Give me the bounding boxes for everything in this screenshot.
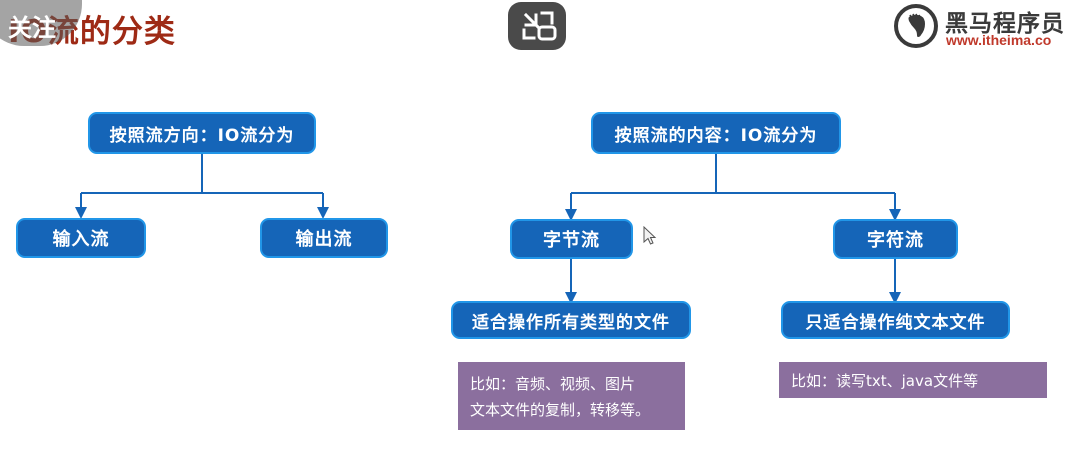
node-left-root[interactable]: 按照流方向：IO流分为 [88, 112, 316, 154]
note-byte-stream: 比如：音频、视频、图片 文本文件的复制，转移等。 [458, 362, 685, 430]
node-input-stream[interactable]: 输入流 [16, 218, 146, 258]
follow-badge-label[interactable]: 关注 [8, 8, 56, 43]
node-char-stream[interactable]: 字符流 [833, 219, 958, 259]
picture-in-picture-icon[interactable] [508, 2, 566, 50]
node-byte-stream-detail[interactable]: 适合操作所有类型的文件 [451, 301, 691, 339]
note-line: 比如：读写txt、java文件等 [791, 368, 1035, 394]
node-right-root[interactable]: 按照流的内容：IO流分为 [591, 112, 841, 154]
brand-url: www.itheima.co [946, 32, 1051, 48]
note-char-stream: 比如：读写txt、java文件等 [779, 362, 1047, 398]
slide-canvas: IO流的分类 关注 黑马程序员 www.itheima.co 按照流方向：IO流… [0, 0, 1076, 450]
note-line: 比如：音频、视频、图片 [470, 371, 673, 397]
horse-head-logo-icon [893, 3, 939, 49]
node-byte-stream[interactable]: 字节流 [510, 219, 633, 259]
node-output-stream[interactable]: 输出流 [260, 218, 388, 258]
node-char-stream-detail[interactable]: 只适合操作纯文本文件 [781, 301, 1010, 339]
brand-logo: 黑马程序员 www.itheima.co [893, 2, 1076, 52]
note-line: 文本文件的复制，转移等。 [470, 397, 673, 423]
mouse-pointer [643, 226, 657, 246]
